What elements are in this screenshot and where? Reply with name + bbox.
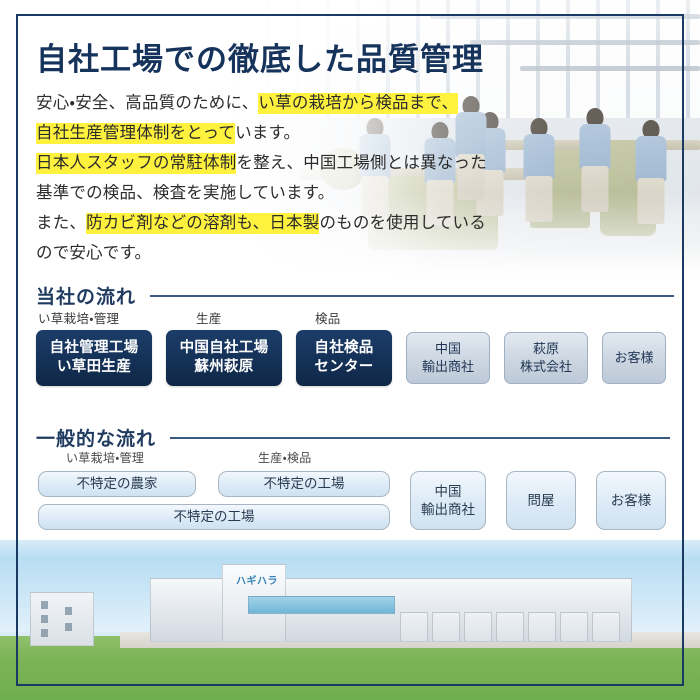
box-label-line: センター [314,358,373,377]
box-label-line: 中国 [435,483,462,501]
plain-text: 安心・安全、高品質のために、 [36,94,258,112]
caption-production-inspection-general: 生産・検品 [258,449,312,466]
body-line: 自社生産管理体制をとっています。 [36,118,656,148]
plain-text: また、 [36,214,86,232]
flow-step-inspection-center: 自社検品センター [296,330,392,386]
plain-text: います。 [235,124,300,142]
box-label-line: 蘇州萩原 [194,358,253,377]
box-label-line: 中国 [435,340,461,358]
caption-cultivation-general: い草栽培・管理 [66,449,144,466]
flow-step-china-export-trader: 中国輸出商社 [406,332,490,384]
general-step-china-export-trader: 中国輸出商社 [410,471,486,530]
plain-text: のものを使用している [319,214,486,232]
company-flow-heading: 当社の流れ [36,282,674,309]
page-title: 自社工場での徹底した品質管理 [36,34,484,79]
heading-rule [170,437,670,439]
body-line: 安心・安全、高品質のために、い草の栽培から検品まで、 [36,88,656,118]
box-label-line: 輸出商社 [421,501,475,519]
plain-text: を整え、中国工場側とは異なった [236,154,487,172]
general-step-customer: お客様 [596,471,666,530]
body-line: また、防カビ剤などの溶剤も、日本製のものを使用している [36,208,656,238]
flow-step-hagihara-corp: 萩原株式会社 [504,332,588,384]
box-label-line: お客様 [611,492,652,510]
plain-text: 基準での検品、検査を実施しています。 [36,184,334,202]
box-label-line: 不特定の工場 [174,508,255,526]
box-label-line: 問屋 [528,492,555,510]
body-line: ので安心です。 [36,238,656,268]
plain-text: ので安心です。 [36,244,151,262]
general-flow-heading: 一般的な流れ [36,424,670,451]
box-label-line: い草田生産 [57,358,131,377]
heading-rule [150,295,674,297]
general-step-unspecified-factory: 不特定の工場 [218,471,390,497]
box-label-line: 自社管理工場 [50,339,139,358]
section-title: 一般的な流れ [36,424,156,451]
content-layer: 自社工場での徹底した品質管理 安心・安全、高品質のために、い草の栽培から検品まで… [0,0,700,700]
box-label-line: 萩原 [533,340,559,358]
flow-step-china-own-factory: 中国自社工場蘇州萩原 [166,330,282,386]
body-paragraph: 安心・安全、高品質のために、い草の栽培から検品まで、 自社生産管理体制をとってい… [36,88,656,268]
infographic-page: ハギハラ 自社工場での徹底した品質管理 安心・安全、高品質のために、い草の栽培か… [0,0,700,700]
box-label-line: 輸出商社 [422,358,474,376]
highlighted-text: 防カビ剤などの溶剤も、 [86,213,269,234]
body-line: 日本人スタッフの常駐体制を整え、中国工場側とは異なった [36,148,656,178]
box-label-line: 不特定の農家 [77,475,158,493]
caption-inspection: 検品 [315,308,341,327]
flow-step-own-managed-factory: 自社管理工場い草田生産 [36,330,152,386]
highlighted-text: 日本人スタッフの常駐体制 [36,153,236,174]
box-label-line: 株式会社 [520,358,572,376]
box-label-line: 自社検品 [314,339,373,358]
general-step-unspecified-farm: 不特定の農家 [38,471,196,497]
box-label-line: 不特定の工場 [264,475,345,493]
highlighted-text: い草の栽培から検品まで、 [258,93,458,114]
box-label-line: お客様 [614,349,653,367]
caption-cultivation: い草栽培・管理 [38,308,119,327]
general-step-wholesaler: 問屋 [506,471,576,530]
box-label-line: 中国自社工場 [180,339,269,358]
general-step-unspecified-factory-wide: 不特定の工場 [38,504,390,530]
flow-step-customer: お客様 [602,332,666,384]
body-line: 基準での検品、検査を実施しています。 [36,178,656,208]
highlighted-text: 自社生産管理体制をとって [36,123,235,144]
section-title: 当社の流れ [36,282,136,309]
highlighted-text: 日本製 [269,213,319,234]
caption-production: 生産 [196,308,222,327]
